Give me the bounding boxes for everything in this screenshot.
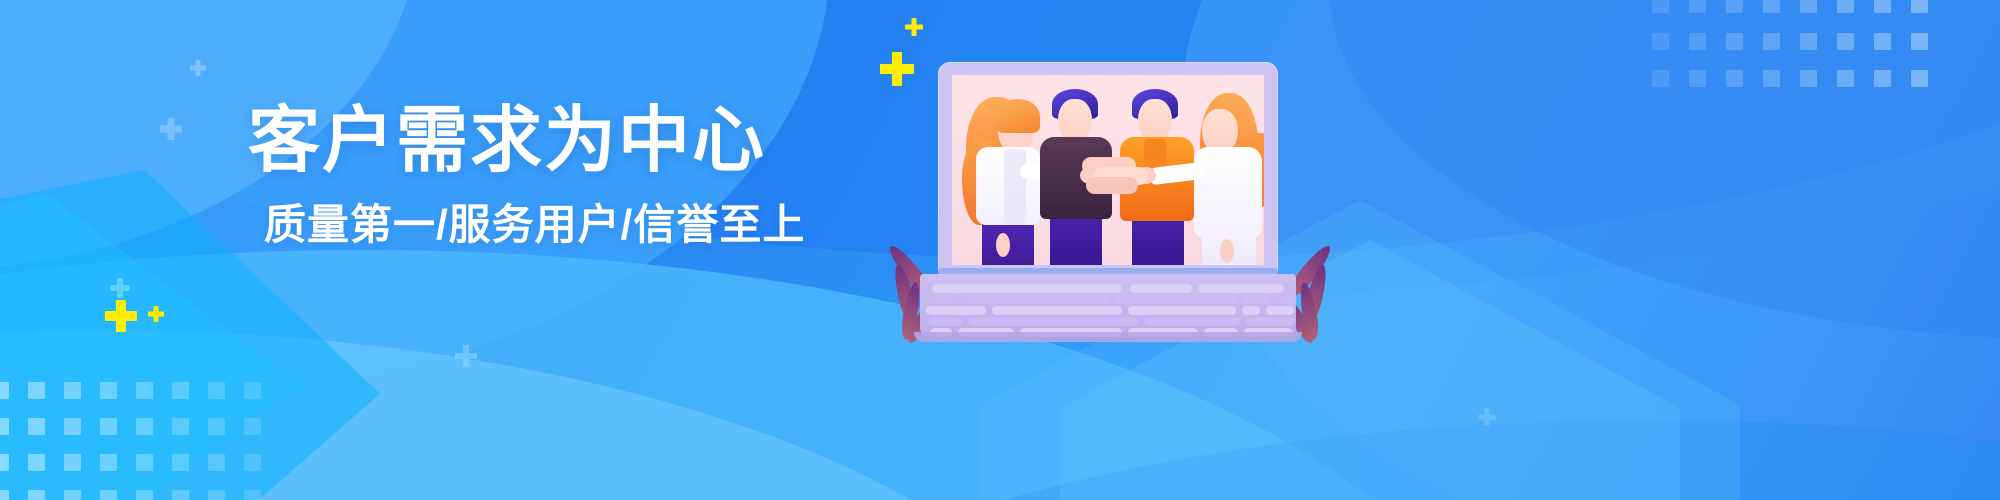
grid-cell (136, 454, 153, 471)
grid-cell (64, 454, 81, 471)
plus-white-left-icon (160, 118, 182, 140)
background-wave-bottom-right (700, 420, 2000, 500)
grid-cell (136, 382, 153, 399)
banner-copy: 客户需求为中心 质量第一/服务用户/信誉至上 (248, 104, 868, 248)
grid-cell (28, 490, 45, 500)
grid-cell (136, 418, 153, 435)
grid-cell (1726, 0, 1743, 13)
grid-cell (1874, 0, 1891, 13)
keyboard-key (1198, 284, 1284, 293)
keyboard-key (1242, 295, 1268, 304)
grid-cell (1837, 70, 1854, 87)
grid-cell (208, 490, 225, 500)
grid-cell (28, 418, 45, 435)
grid-cell (28, 382, 45, 399)
grid-cell (0, 418, 9, 435)
plus-cyan-bottom-icon (110, 278, 130, 298)
laptop-base (920, 274, 1296, 336)
laptop-base-lip (914, 332, 1302, 342)
person-woman-right (1180, 91, 1264, 265)
grid-cell (244, 382, 261, 399)
grid-cell (64, 418, 81, 435)
grid-cell (64, 490, 81, 500)
keyboard-key (968, 317, 1138, 326)
keyboard-key (928, 317, 962, 326)
grid-cell (1763, 0, 1780, 13)
grid-cell (244, 418, 261, 435)
promo-banner: 客户需求为中心 质量第一/服务用户/信誉至上 (0, 0, 2000, 500)
laptop-teamwork-illustration (920, 62, 1300, 352)
grid-cell (1689, 0, 1706, 13)
grid-cell (1726, 70, 1743, 87)
keyboard-key (992, 306, 1122, 315)
keyboard-key (1116, 295, 1236, 304)
background-wave-lower-left-2 (0, 330, 1100, 500)
grid-cell (1726, 33, 1743, 50)
grid-cell (136, 490, 153, 500)
grid-cell (1800, 0, 1817, 13)
keyboard-key (1144, 317, 1240, 326)
grid-cell (1874, 33, 1891, 50)
grid-cell (28, 454, 45, 471)
keyboard-key (926, 306, 986, 315)
plus-yellow-large-icon (880, 52, 914, 86)
grid-cell (0, 490, 9, 500)
plus-yellow-bottom-large-icon (105, 300, 137, 332)
banner-subtitle: 质量第一/服务用户/信誉至上 (264, 202, 868, 248)
keyboard-key (1128, 306, 1236, 315)
grid-cell (1763, 33, 1780, 50)
keyboard-key (1246, 317, 1294, 326)
grid-cell (1911, 33, 1928, 50)
plus-yellow-small-icon (905, 18, 923, 36)
grid-cell (64, 382, 81, 399)
grid-cell (100, 418, 117, 435)
plus-yellow-bottom-small-icon (148, 306, 164, 322)
grid-cell (1763, 70, 1780, 87)
background-wave-top-right (1330, 0, 2000, 340)
grid-cell (172, 418, 189, 435)
grid-cell (172, 382, 189, 399)
grid-cell (100, 454, 117, 471)
grid-cell (1837, 33, 1854, 50)
grid-cell (1800, 70, 1817, 87)
grid-cell (1911, 70, 1928, 87)
keyboard-key (928, 295, 954, 304)
grid-cell (172, 454, 189, 471)
plus-white-upper-icon (190, 60, 206, 76)
grid-top-right (1652, 0, 1982, 116)
grid-cell (1874, 70, 1891, 87)
grid-cell (1652, 33, 1669, 50)
keyboard-key (960, 295, 1110, 304)
plus-cyan-mid-icon (455, 345, 477, 367)
grid-cell (1652, 70, 1669, 87)
grid-cell (100, 490, 117, 500)
grid-bottom-left (0, 382, 292, 500)
page-title: 客户需求为中心 (248, 104, 868, 180)
grid-cell (1837, 0, 1854, 13)
grid-cell (172, 490, 189, 500)
keyboard-key (1266, 306, 1294, 315)
grid-cell (0, 382, 9, 399)
stacked-hands (1080, 153, 1154, 197)
plus-cyan-right-icon (1478, 408, 1496, 426)
laptop-screen (952, 75, 1264, 265)
grid-cell (100, 382, 117, 399)
keyboard-key (1130, 284, 1192, 293)
grid-cell (244, 454, 261, 471)
grid-cell (208, 418, 225, 435)
grid-cell (208, 382, 225, 399)
laptop-lid (938, 62, 1278, 274)
grid-cell (1800, 33, 1817, 50)
grid-cell (244, 490, 261, 500)
keyboard-key (932, 284, 1122, 293)
grid-cell (0, 454, 9, 471)
keyboard-key (1272, 295, 1294, 304)
grid-cell (1652, 0, 1669, 13)
grid-cell (208, 454, 225, 471)
grid-cell (1689, 70, 1706, 87)
grid-cell (1689, 33, 1706, 50)
laptop-keyboard (920, 274, 1296, 336)
grid-cell (1911, 0, 1928, 13)
keyboard-key (1242, 306, 1260, 315)
